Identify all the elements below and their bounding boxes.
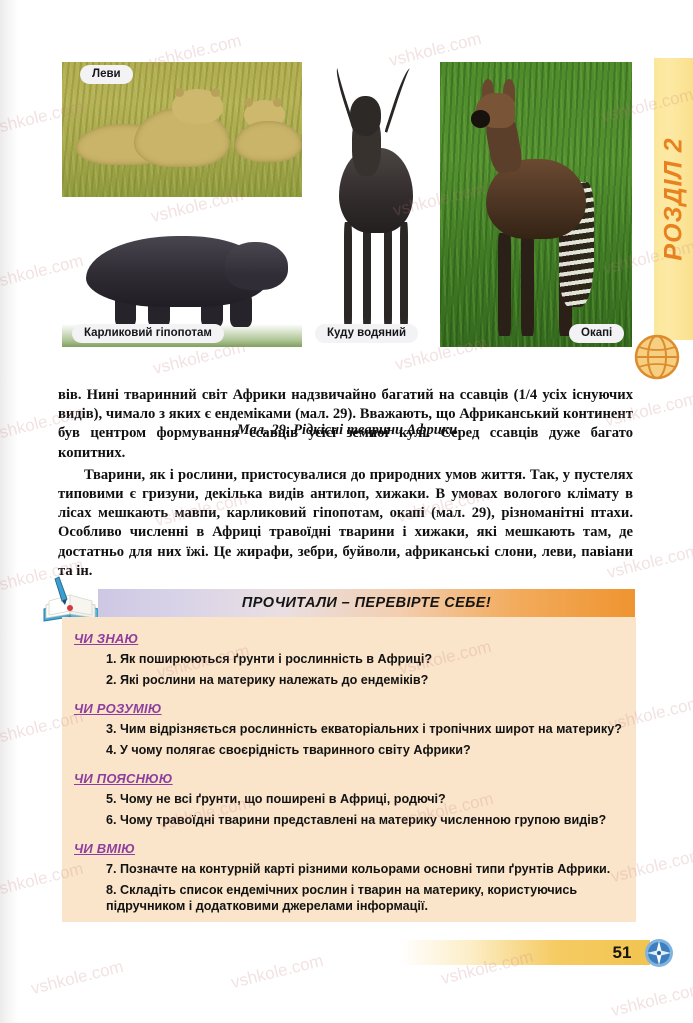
figure-photos: Леви Карликовий гіпопотам Куду водяний О… <box>62 62 632 347</box>
lion-ear-shape <box>211 88 220 97</box>
question-group-rozumiyu: ЧИ РОЗУМІЮ 3. Чим відрізняється рослинні… <box>62 701 636 758</box>
okapi-leg-shape <box>521 233 534 336</box>
watermark: vshkole.com <box>229 951 326 993</box>
body-paragraph: Тварини, як і рослини, пристосувалися до… <box>58 466 633 581</box>
page-edge-shadow <box>0 0 18 1023</box>
open-book-icon <box>40 575 102 623</box>
photo-caption-hippo: Карликовий гіпопотам <box>72 324 224 343</box>
okapi-muzzle-shape <box>471 110 490 127</box>
photo-caption-kudu: Куду водяний <box>315 324 418 343</box>
photo-kudu <box>310 62 442 347</box>
question-item: 5. Чому не всі ґрунти, що поширені в Афр… <box>106 791 636 807</box>
watermark: vshkole.com <box>29 957 126 999</box>
lion-shape <box>235 121 302 162</box>
question-group-vmiyu: ЧИ ВМІЮ 7. Позначте на контурній карті р… <box>62 841 636 914</box>
question-group-heading: ЧИ ВМІЮ <box>74 841 636 856</box>
question-item: 4. У чому полягає своєрідність тваринног… <box>106 742 636 758</box>
question-item: 2. Які рослини на материку належать до е… <box>106 672 636 688</box>
question-item: 3. Чим відрізняється рослинність екватор… <box>106 721 636 737</box>
kudu-leg-shape <box>363 222 371 330</box>
kudu-leg-shape <box>400 222 408 330</box>
question-item: 6. Чому травоїдні тварини представлені н… <box>106 812 636 828</box>
question-item: 1. Як поширюються ґрунти і рослинність в… <box>106 651 636 667</box>
self-check-banner: ПРОЧИТАЛИ – ПЕРЕВІРТЕ СЕБЕ! <box>98 589 635 617</box>
hippo-head-shape <box>225 242 287 290</box>
question-item: 8. Складіть список ендемічних рослин і т… <box>106 882 626 914</box>
question-group-heading: ЧИ ЗНАЮ <box>74 631 636 646</box>
photo-caption-okapi: Окапі <box>569 324 624 343</box>
okapi-leg-shape <box>498 233 511 336</box>
kudu-head-shape <box>350 96 382 136</box>
body-text: вів. Нині тваринний світ Африки надзвича… <box>58 386 633 581</box>
photo-caption-lions: Леви <box>80 65 133 84</box>
lion-ear-shape <box>175 88 184 97</box>
chapter-tab-label: РОЗДІЛ 2 <box>659 137 688 260</box>
page-number: 51 <box>604 940 640 965</box>
question-group-znayu: ЧИ ЗНАЮ 1. Як поширюються ґрунти і росли… <box>62 631 636 688</box>
self-check-questions-panel: ЧИ ЗНАЮ 1. Як поширюються ґрунти і росли… <box>62 617 636 922</box>
kudu-leg-shape <box>384 222 392 330</box>
photo-okapi <box>440 62 632 347</box>
watermark: vshkole.com <box>609 979 693 1021</box>
question-group-heading: ЧИ ПОЯСНЮЮ <box>74 771 636 786</box>
chapter-tab: РОЗДІЛ 2 <box>654 58 693 340</box>
question-group-heading: ЧИ РОЗУМІЮ <box>74 701 636 716</box>
question-item: 7. Позначте на контурній карті різними к… <box>106 861 636 877</box>
compass-icon <box>644 938 674 968</box>
kudu-leg-shape <box>344 222 352 330</box>
globe-icon <box>633 333 681 381</box>
self-check-banner-title: ПРОЧИТАЛИ – ПЕРЕВІРТЕ СЕБЕ! <box>242 595 491 611</box>
body-paragraph: вів. Нині тваринний світ Африки надзвича… <box>58 386 633 463</box>
textbook-page: РОЗДІЛ 2 <box>0 0 693 1023</box>
question-group-poyasnyuyu: ЧИ ПОЯСНЮЮ 5. Чому не всі ґрунти, що пош… <box>62 771 636 828</box>
